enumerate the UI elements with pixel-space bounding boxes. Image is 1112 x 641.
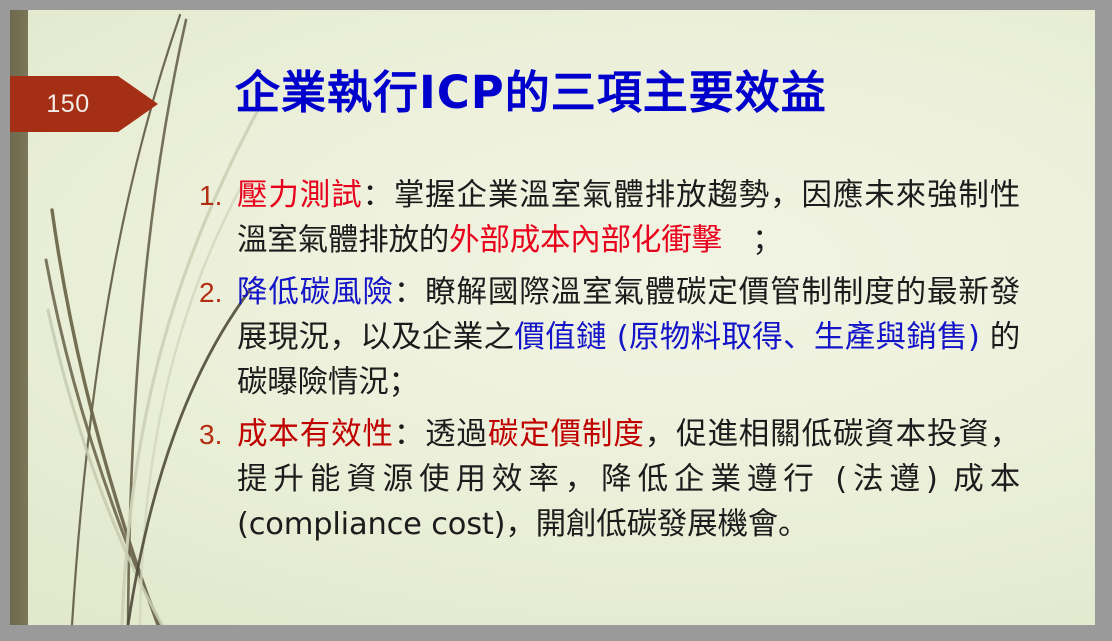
text-segment: 價值鏈 (原物料取得、生產與銷售) [514,320,979,355]
bullet-item: 3.成本有效性：透過碳定價制度，促進相關低碳資本投資，提升能資源使用效率，降低企… [195,412,1020,547]
bullet-number: 3. [195,412,237,457]
bullet-text: 成本有效性：透過碳定價制度，促進相關低碳資本投資，提升能資源使用效率，降低企業遵… [237,412,1020,547]
bullet-text: 降低碳風險：瞭解國際溫室氣體碳定價管制制度的最新發展現況，以及企業之價值鏈 (原… [237,270,1020,405]
bullet-number: 1. [195,173,237,218]
slide-number-label: 150 [10,76,126,132]
text-segment: 碳定價制度 [488,417,645,452]
text-segment: 外部成本內部化衝擊 [449,223,722,258]
slide-number-banner: 150 [10,76,158,132]
text-segment: ； [722,223,783,258]
text-segment: 成本有效性 [237,417,394,452]
bullet-text: 壓力測試：掌握企業溫室氣體排放趨勢，因應未來強制性溫室氣體排放的外部成本內部化衝… [237,173,1020,263]
bullet-item: 2.降低碳風險：瞭解國際溫室氣體碳定價管制制度的最新發展現況，以及企業之價值鏈 … [195,270,1020,405]
bullet-number: 2. [195,270,237,315]
text-segment: 降低碳風險 [237,275,394,310]
page-title: 企業執行ICP的三項主要效益 [235,70,935,115]
bullet-item: 1.壓力測試：掌握企業溫室氣體排放趨勢，因應未來強制性溫室氣體排放的外部成本內部… [195,173,1020,263]
slide-root: 150 企業執行ICP的三項主要效益 1.壓力測試：掌握企業溫室氣體排放趨勢，因… [0,0,1112,641]
text-segment: ：透過 [394,417,488,452]
bullet-list: 1.壓力測試：掌握企業溫室氣體排放趨勢，因應未來強制性溫室氣體排放的外部成本內部… [195,173,1020,554]
text-segment: 壓力測試 [237,178,362,213]
slide-canvas: 150 企業執行ICP的三項主要效益 1.壓力測試：掌握企業溫室氣體排放趨勢，因… [10,10,1095,625]
